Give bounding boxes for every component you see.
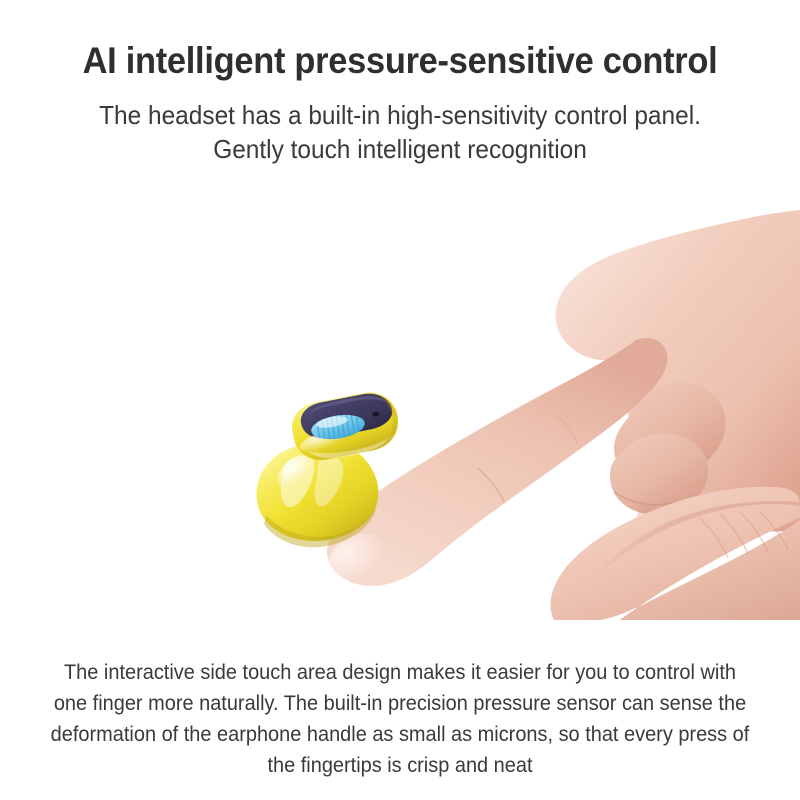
feature-description: The interactive side touch area design m… <box>20 657 780 781</box>
description-line-1: The interactive side touch area design m… <box>20 657 780 688</box>
product-feature-slide: AI intelligent pressure-sensitive contro… <box>0 0 800 800</box>
hero-photo <box>0 200 800 620</box>
description-line-4: the fingertips is crisp and neat <box>20 750 780 781</box>
subtitle-line-2: Gently touch intelligent recognition <box>24 132 776 166</box>
wireless-earbud-photo <box>0 200 800 620</box>
description-line-2: one finger more naturally. The built-in … <box>20 688 780 719</box>
description-line-3: deformation of the earphone handle as sm… <box>20 719 780 750</box>
page-title: AI intelligent pressure-sensitive contro… <box>28 40 772 82</box>
page-subtitle: The headset has a built-in high-sensitiv… <box>24 98 776 166</box>
subtitle-line-1: The headset has a built-in high-sensitiv… <box>24 98 776 132</box>
